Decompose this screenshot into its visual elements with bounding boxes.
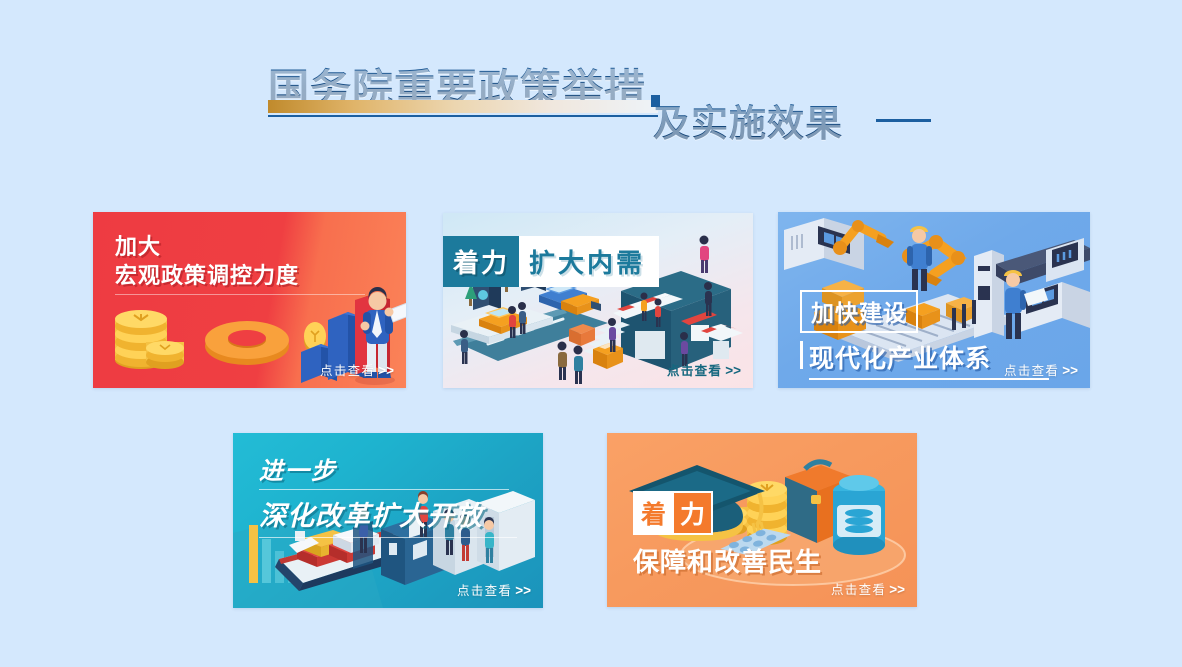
card3-cta-arrows: >> <box>1062 363 1078 378</box>
card3-cta[interactable]: 点击查看>> <box>1004 360 1078 379</box>
card4-cta-label: 点击查看 <box>457 584 512 598</box>
card4-title-line2: 深化改革扩大开放 <box>259 494 517 533</box>
card5-title: 着力 保障和改善民生 <box>633 491 822 579</box>
title-trailing-dash <box>876 119 931 122</box>
card5-title-char-b: 力 <box>674 491 713 535</box>
page-title-line2: 及实施效果 <box>653 93 843 147</box>
title-blue-rule <box>268 115 658 117</box>
card1-cta[interactable]: 点击查看>> <box>320 360 394 379</box>
card5-cta[interactable]: 点击查看>> <box>831 579 905 598</box>
card3-title-vertical-bar <box>800 341 803 369</box>
card5-title-line1: 着力 <box>633 491 822 535</box>
page-title: 国务院重要政策举措 及实施效果 <box>268 55 968 155</box>
card1-cta-label: 点击查看 <box>320 364 375 378</box>
card5-cta-label: 点击查看 <box>831 583 886 597</box>
card4-title-rule-bottom <box>259 537 517 538</box>
card4-cta[interactable]: 点击查看>> <box>457 580 531 599</box>
card2-title-segment-a: 着力 <box>443 236 519 287</box>
card2-cta[interactable]: 点击查看>> <box>667 360 741 379</box>
card2-title: 着力扩大内需 <box>443 236 659 287</box>
policy-card-industrial-system[interactable]: 加快建设 现代化产业体系 点击查看>> <box>778 212 1090 388</box>
card1-title-line1: 加大 <box>115 234 365 261</box>
title-gold-accent-bar <box>268 100 658 113</box>
policy-card-reform-opening[interactable]: 进一步 深化改革扩大开放 点击查看>> <box>233 433 543 608</box>
card1-cta-arrows: >> <box>378 363 394 378</box>
policy-measures-page: 国务院重要政策举措 及实施效果 <box>0 0 1182 667</box>
card1-title-rule <box>115 294 365 295</box>
card4-cta-arrows: >> <box>515 583 531 598</box>
card3-title-line1: 加快建设 <box>811 300 907 326</box>
policy-card-livelihood[interactable]: 着力 保障和改善民生 点击查看>> <box>607 433 917 607</box>
card2-title-segment-b: 扩大内需 <box>519 236 659 287</box>
card5-title-line2: 保障和改善民生 <box>633 542 822 579</box>
policy-card-macro-policy[interactable]: 加大 宏观政策调控力度 点击查看>> <box>93 212 406 388</box>
policy-card-domestic-demand[interactable]: 着力扩大内需 点击查看>> <box>443 213 753 388</box>
card4-title-line1: 进一步 <box>259 451 517 486</box>
card2-cta-label: 点击查看 <box>667 364 722 378</box>
card5-cta-arrows: >> <box>889 582 905 597</box>
card1-title-line2: 宏观政策调控力度 <box>115 261 365 290</box>
card1-title: 加大 宏观政策调控力度 <box>115 234 365 295</box>
card5-title-char-a: 着 <box>633 491 674 535</box>
card4-title-rule-top <box>259 489 509 490</box>
card3-cta-label: 点击查看 <box>1004 364 1059 378</box>
card2-cta-arrows: >> <box>725 363 741 378</box>
card3-title-line1-box: 加快建设 <box>800 290 918 333</box>
card4-title: 进一步 深化改革扩大开放 <box>259 451 517 538</box>
